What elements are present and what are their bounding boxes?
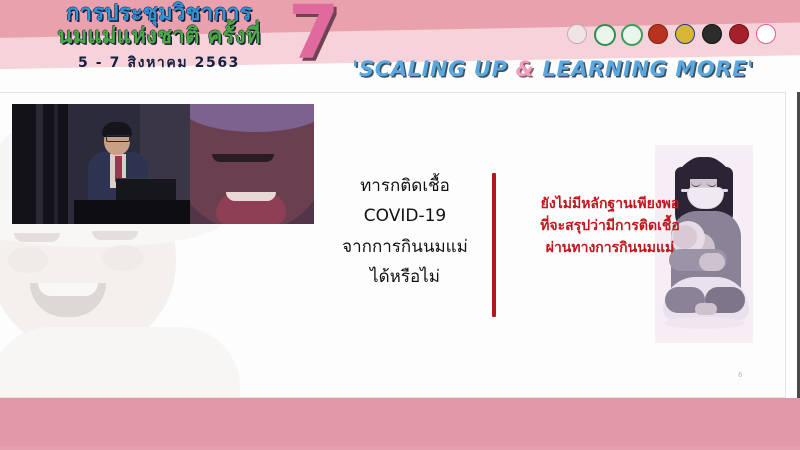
conference-header-banner: การประชุมวิชาการ นมแม่แห่งชาติ ครั้งที่ … (0, 0, 800, 92)
question-text-block: ทารกติดเชื้อ COVID-19 จากการกินนมแม่ ได้… (330, 171, 480, 292)
logo-red-crest (727, 24, 749, 48)
slide-page-number: 6 (738, 371, 742, 379)
conference-title-line2: นมแม่แห่งชาติ ครั้งที่ (14, 25, 304, 49)
question-line-4: ได้หรือไม่ (330, 262, 480, 292)
tagline-ampersand: & (516, 57, 535, 81)
logo-royal-emblem-red (646, 24, 668, 48)
sponsor-logo-row (565, 24, 776, 48)
footer-decoration (0, 398, 800, 450)
logo-thai-breastfeeding-foundation (565, 24, 587, 48)
conference-edition-number: 7 (288, 0, 340, 70)
footer-wedge-dark (0, 398, 800, 450)
question-line-1: ทารกติดเชื้อ (330, 171, 480, 201)
speaker-video-thumbnail[interactable] (12, 104, 314, 224)
answer-line-3: ผ่านทางการกินนมแม่ (503, 237, 717, 259)
slide-viewer: การประชุมวิชาการ นมแม่แห่งชาติ ครั้งที่ … (0, 0, 800, 450)
logo-black-seal (700, 24, 722, 48)
logo-thai-health-sso (754, 24, 776, 48)
logo-royal-standard (673, 24, 695, 48)
conference-title-block: การประชุมวิชาการ นมแม่แห่งชาติ ครั้งที่ … (14, 2, 304, 74)
answer-text-block: ยังไม่มีหลักฐานเพียงพอ ที่จะสรุปว่ามีการ… (503, 193, 717, 259)
presentation-slide: ทารกติดเชื้อ COVID-19 จากการกินนมแม่ ได้… (0, 92, 786, 398)
logo-department-of-health (619, 24, 641, 48)
conference-title-line1: การประชุมวิชาการ (14, 2, 304, 25)
tagline-part2: LEARNING MORE' (534, 57, 754, 81)
question-line-3: จากการกินนมแม่ (330, 232, 480, 262)
tagline-part1: 'SCALING UP (352, 57, 516, 81)
conference-date: 5 - 7 สิงหาคม 2563 (14, 52, 304, 74)
answer-line-2: ที่จะสรุปว่ามีการติดเชื้อ (503, 215, 717, 237)
vertical-red-divider (492, 173, 496, 317)
answer-line-1: ยังไม่มีหลักฐานเพียงพอ (503, 193, 717, 215)
logo-ministry-of-public-health (592, 24, 614, 48)
conference-tagline: 'SCALING UP & LEARNING MORE' (352, 57, 754, 81)
question-line-2: COVID-19 (330, 201, 480, 231)
footer-bottom-edge (0, 446, 800, 450)
